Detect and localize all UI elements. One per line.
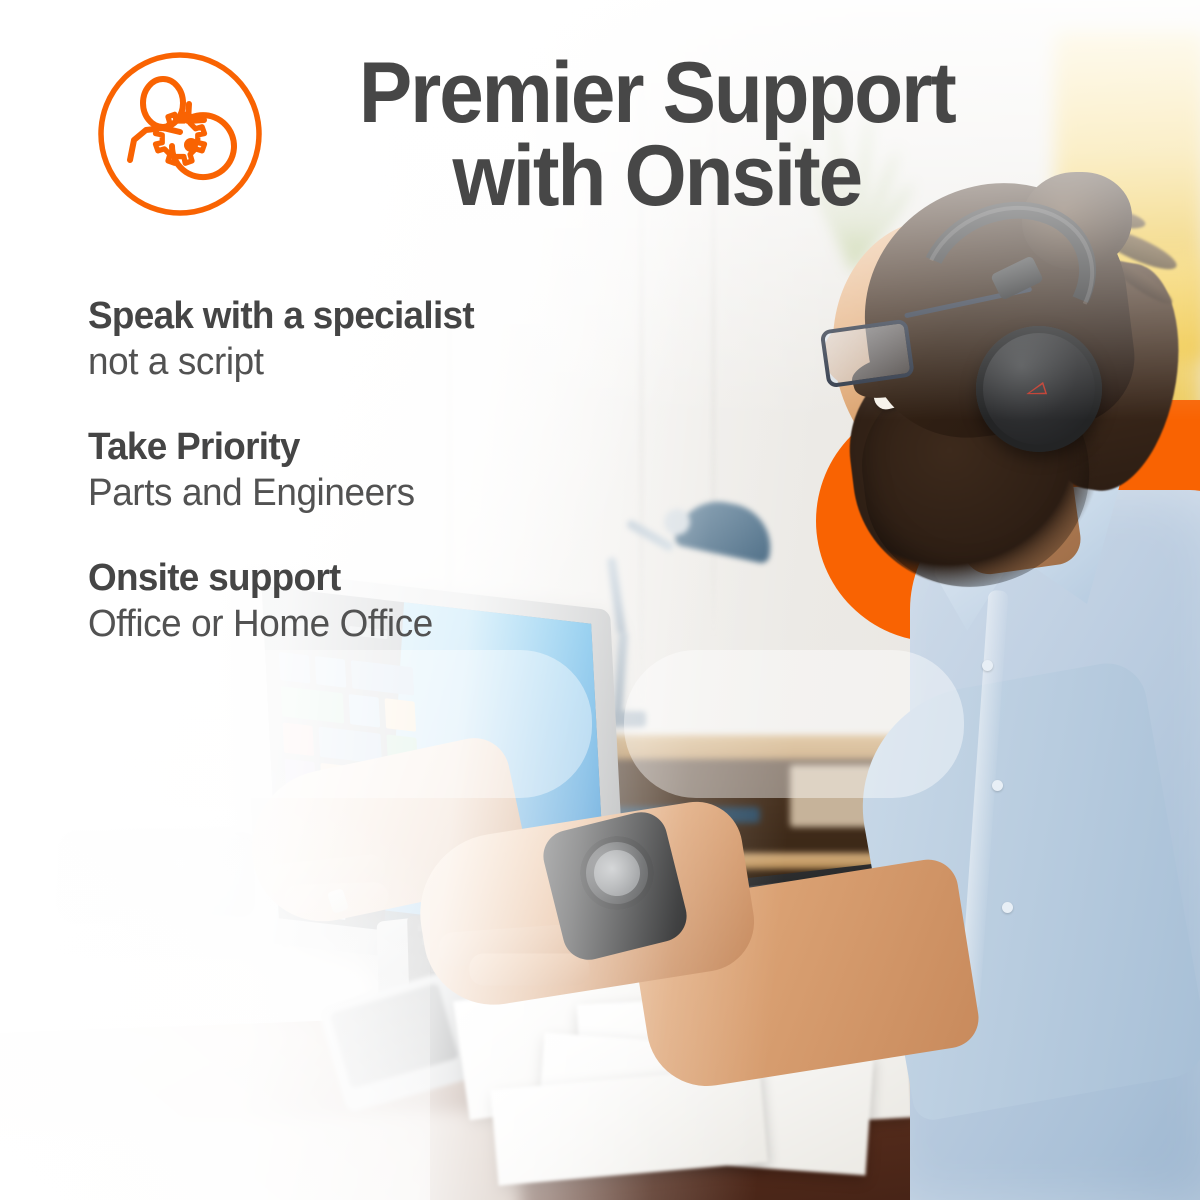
feature-subtitle: Parts and Engineers: [88, 470, 689, 516]
feature-title: Onsite support: [88, 556, 689, 601]
support-person-gear-icon: [94, 48, 266, 220]
premier-support-banner: ◅ Prem: [0, 0, 1200, 1200]
headline-line-1: Premier Support: [322, 52, 992, 135]
banner-content: Premier Support with Onsite Speak with a…: [0, 0, 1200, 1200]
feature-title: Speak with a specialist: [88, 294, 689, 339]
feature-item-priority: Take Priority Parts and Engineers: [88, 425, 708, 516]
page-title: Premier Support with Onsite: [322, 52, 992, 217]
feature-subtitle: Office or Home Office: [88, 601, 689, 647]
feature-item-specialist: Speak with a specialist not a script: [88, 294, 708, 385]
feature-item-onsite: Onsite support Office or Home Office: [88, 556, 708, 647]
feature-list: Speak with a specialist not a script Tak…: [88, 294, 708, 688]
feature-subtitle: not a script: [88, 339, 689, 385]
headline-line-2: with Onsite: [322, 135, 992, 218]
feature-title: Take Priority: [88, 425, 689, 470]
